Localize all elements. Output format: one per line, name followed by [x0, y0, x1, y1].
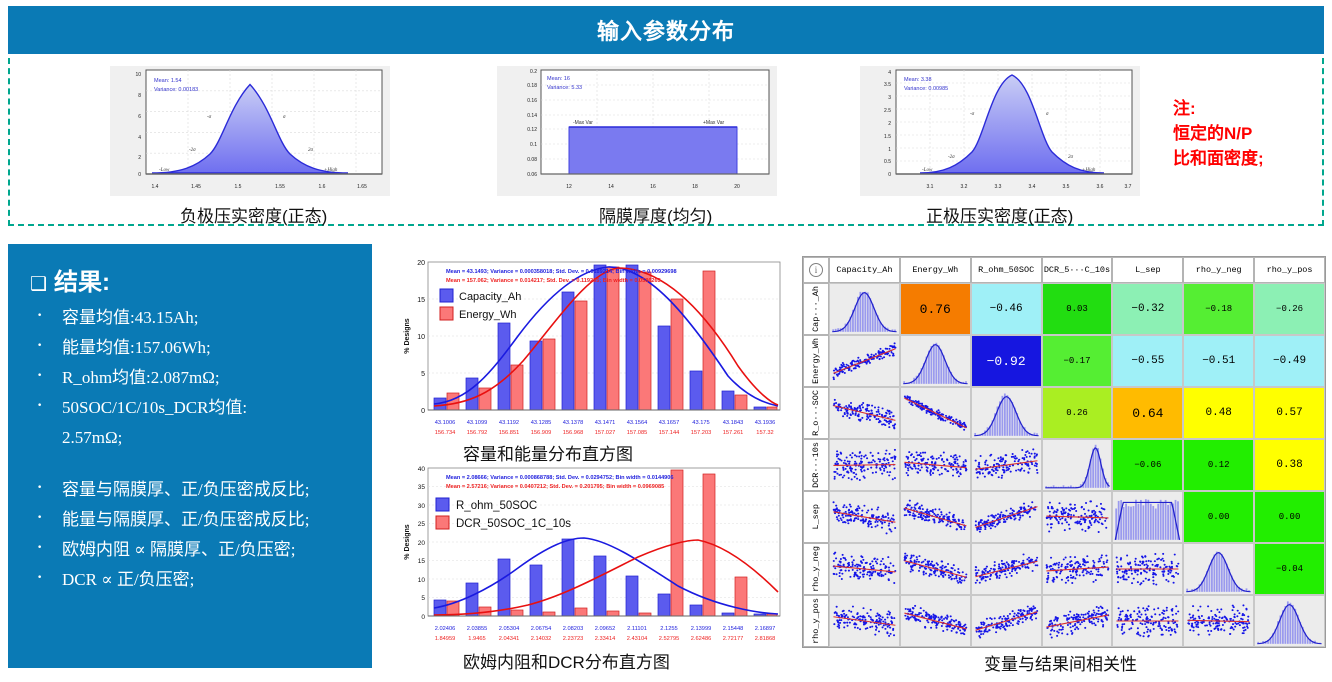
list-item: 欧姆内阻 ∝ 隔膜厚、正/负压密; — [28, 535, 358, 565]
legend-label-energy: Energy_Wh — [459, 309, 516, 321]
matrix-diagonal-histogram-4 — [1112, 491, 1183, 543]
list-item: 容量与隔膜厚、正/负压密成反比; — [28, 475, 358, 505]
svg-text:+High: +High — [1082, 168, 1096, 173]
distribution-caption-cathode: 正极压实密度(正态) — [926, 202, 1073, 227]
matrix-scatter-cell-4-2 — [971, 491, 1042, 543]
svg-text:3.1: 3.1 — [927, 184, 934, 190]
svg-text:6: 6 — [138, 114, 141, 120]
matrix-diagonal-histogram-2 — [971, 387, 1042, 439]
svg-text:15: 15 — [417, 297, 425, 304]
correlation-value: 0.48 — [1184, 388, 1253, 438]
histogram-plot-1: 2015 105 0 % Designs Mean = 43.1493; Var… — [398, 256, 788, 442]
distribution-caption-anode: 负极压实密度(正态) — [180, 202, 327, 227]
results-relationship-list: 容量与隔膜厚、正/负压密成反比; 能量与隔膜厚、正/负压密成反比; 欧姆内阻 ∝… — [28, 475, 358, 595]
svg-text:2.33414: 2.33414 — [595, 636, 616, 642]
svg-text:156.968: 156.968 — [563, 430, 584, 436]
svg-text:43.1099: 43.1099 — [467, 420, 488, 426]
distribution-chart-anode: 108 64 20 1.41.45 1.51.55 1.61.65 Mean: … — [110, 66, 390, 196]
matrix-correlation-cell-2-3: 0.26 — [1042, 387, 1113, 439]
correlation-value: 0.57 — [1255, 388, 1324, 438]
legend-label-rohm: R_ohm_50SOC — [456, 500, 537, 512]
svg-text:156.851: 156.851 — [499, 430, 520, 436]
svg-text:2.62486: 2.62486 — [691, 636, 712, 642]
svg-text:-Low: -Low — [159, 168, 170, 173]
correlation-value: 0.03 — [1043, 284, 1112, 334]
svg-text:2.23723: 2.23723 — [563, 636, 584, 642]
svg-text:2.81868: 2.81868 — [755, 636, 776, 642]
svg-text:43.1564: 43.1564 — [627, 420, 648, 426]
svg-text:2.14032: 2.14032 — [531, 636, 552, 642]
list-item: 能量均值:157.06Wh; — [28, 333, 358, 363]
matrix-correlation-cell-1-3: −0.17 — [1042, 335, 1113, 387]
svg-text:40: 40 — [418, 466, 426, 473]
matrix-column-header-1: Energy_Wh — [900, 257, 971, 283]
svg-text:0.5: 0.5 — [884, 159, 891, 165]
svg-text:2.02406: 2.02406 — [435, 626, 456, 632]
svg-text:30: 30 — [418, 503, 426, 510]
svg-text:0: 0 — [138, 172, 141, 178]
svg-text:16: 16 — [650, 184, 656, 190]
normal-distribution-plot-1: 108 64 20 1.41.45 1.51.55 1.61.65 Mean: … — [110, 66, 390, 196]
svg-text:0: 0 — [421, 614, 425, 621]
correlation-value: −0.32 — [1113, 284, 1182, 334]
svg-text:0.16: 0.16 — [527, 98, 537, 104]
mean-label-1: Mean: 1.54 — [154, 78, 182, 84]
matrix-correlation-cell-0-2: −0.46 — [971, 283, 1042, 335]
svg-text:1.6: 1.6 — [319, 184, 326, 190]
svg-text:43.1936: 43.1936 — [755, 420, 776, 426]
matrix-column-header-0: Capacity_Ah — [829, 257, 900, 283]
histogram-capacity-energy: 2015 105 0 % Designs Mean = 43.1493; Var… — [398, 256, 788, 442]
svg-text:3.7: 3.7 — [1125, 184, 1132, 190]
stats-line-blue-2: Mean = 2.08666; Variance = 0.000868788; … — [446, 475, 674, 481]
matrix-row-header-6: rho_y_pos — [803, 595, 829, 647]
svg-text:18: 18 — [692, 184, 698, 190]
normal-distribution-plot-2: 43.5 32.5 21.5 10.5 0 3.13.2 3.33.4 3.53… — [860, 66, 1140, 196]
svg-text:20: 20 — [418, 540, 426, 547]
matrix-scatter-cell-4-0 — [829, 491, 900, 543]
note-line-3: 比和面密度; — [1173, 146, 1264, 171]
results-title-text: 结果: — [54, 269, 110, 296]
svg-text:0.08: 0.08 — [527, 157, 537, 163]
svg-text:3.4: 3.4 — [1029, 184, 1036, 190]
svg-text:156.909: 156.909 — [531, 430, 552, 436]
svg-text:% Designs: % Designs — [404, 318, 411, 354]
matrix-scatter-cell-2-1 — [900, 387, 971, 439]
matrix-diagonal-histogram-1 — [900, 335, 971, 387]
distribution-chart-cathode: 43.5 32.5 21.5 10.5 0 3.13.2 3.33.4 3.53… — [860, 66, 1140, 196]
matrix-row-header-2: R_o···SOC — [803, 387, 829, 439]
svg-text:156.792: 156.792 — [467, 430, 488, 436]
svg-text:157.203: 157.203 — [691, 430, 712, 436]
input-distributions-section: 108 64 20 1.41.45 1.51.55 1.61.65 Mean: … — [8, 58, 1324, 226]
correlation-value: 0.12 — [1184, 440, 1253, 490]
info-icon: i — [809, 263, 823, 277]
correlation-value: 0.76 — [901, 284, 970, 334]
svg-text:2.04341: 2.04341 — [499, 636, 520, 642]
svg-text:2.43104: 2.43104 — [627, 636, 648, 642]
matrix-scatter-cell-6-0 — [829, 595, 900, 647]
histogram-caption-2: 欧姆内阻和DCR分布直方图 — [463, 648, 670, 673]
matrix-correlation-cell-5-6: −0.04 — [1254, 543, 1325, 595]
svg-text:2.08203: 2.08203 — [563, 626, 584, 632]
matrix-correlation-cell-2-5: 0.48 — [1183, 387, 1254, 439]
svg-text:4: 4 — [888, 70, 891, 76]
svg-text:2.06754: 2.06754 — [531, 626, 552, 632]
matrix-column-header-5: rho_y_neg — [1183, 257, 1254, 283]
svg-text:-Max Var: -Max Var — [573, 120, 593, 126]
list-item-continuation: 2.57mΩ; — [28, 423, 358, 453]
results-metric-list: 容量均值:43.15Ah; 能量均值:157.06Wh; R_ohm均值:2.0… — [28, 303, 358, 453]
matrix-scatter-cell-2-0 — [829, 387, 900, 439]
svg-text:0.06: 0.06 — [527, 172, 537, 178]
matrix-correlation-cell-1-4: −0.55 — [1112, 335, 1183, 387]
svg-text:% Designs: % Designs — [404, 524, 411, 560]
correlation-value: −0.46 — [972, 284, 1041, 334]
svg-text:156.734: 156.734 — [435, 430, 456, 436]
svg-text:5: 5 — [421, 371, 425, 378]
histogram-plot-2: 4035 3025 2015 105 0 % Designs Mean = 2.… — [398, 462, 788, 648]
matrix-scatter-cell-6-5 — [1183, 595, 1254, 647]
svg-text:1.45: 1.45 — [191, 184, 201, 190]
svg-text:3.3: 3.3 — [995, 184, 1002, 190]
variance-label-3: Variance: 0.00985 — [904, 86, 948, 92]
list-item: 容量均值:43.15Ah; — [28, 303, 358, 333]
svg-text:14: 14 — [608, 184, 614, 190]
matrix-info-cell: i — [803, 257, 829, 283]
svg-text:8: 8 — [138, 93, 141, 99]
matrix-scatter-cell-4-3 — [1042, 491, 1113, 543]
svg-text:2: 2 — [138, 155, 141, 161]
svg-text:-σ: -σ — [207, 115, 212, 120]
correlation-value: −0.49 — [1255, 336, 1324, 386]
variance-label-1: Variance: 0.00183 — [154, 87, 198, 93]
svg-text:2.11101: 2.11101 — [627, 626, 647, 632]
matrix-row-header-1: Energy_Wh — [803, 335, 829, 387]
correlation-value: 0.38 — [1255, 440, 1324, 490]
svg-text:3.5: 3.5 — [884, 82, 891, 88]
matrix-diagonal-histogram-6 — [1254, 595, 1325, 647]
matrix-scatter-cell-3-2 — [971, 439, 1042, 491]
svg-text:35: 35 — [418, 484, 426, 491]
matrix-column-header-6: rho_y_pos — [1254, 257, 1325, 283]
mean-label-2: Mean: 16 — [547, 76, 570, 82]
correlation-value: −0.18 — [1184, 284, 1253, 334]
svg-text:3.2: 3.2 — [961, 184, 968, 190]
svg-text:2.52795: 2.52795 — [659, 636, 680, 642]
correlation-value: −0.51 — [1184, 336, 1253, 386]
correlation-value: −0.04 — [1255, 544, 1324, 594]
svg-text:0.12: 0.12 — [527, 127, 537, 133]
svg-text:43.1006: 43.1006 — [435, 420, 456, 426]
matrix-scatter-cell-3-1 — [900, 439, 971, 491]
svg-text:-σ: -σ — [970, 112, 975, 117]
svg-text:1.55: 1.55 — [275, 184, 285, 190]
matrix-correlation-cell-4-6: 0.00 — [1254, 491, 1325, 543]
svg-text:1.4: 1.4 — [152, 184, 159, 190]
list-item: 50SOC/1C/10s_DCR均值: — [28, 393, 358, 423]
svg-text:10: 10 — [418, 577, 426, 584]
correlation-value: 0.64 — [1113, 388, 1182, 438]
svg-text:0.1: 0.1 — [530, 142, 537, 148]
svg-text:0.18: 0.18 — [527, 83, 537, 89]
svg-text:15: 15 — [418, 558, 426, 565]
matrix-correlation-cell-0-3: 0.03 — [1042, 283, 1113, 335]
svg-text:12: 12 — [566, 184, 572, 190]
svg-text:43.175: 43.175 — [692, 420, 709, 426]
matrix-scatter-cell-5-2 — [971, 543, 1042, 595]
results-title: ❑结果: — [30, 262, 358, 297]
correlation-matrix: iCapacity_AhEnergy_WhR_ohm_50SOCDCR_5···… — [802, 256, 1326, 648]
matrix-diagonal-histogram-3 — [1042, 439, 1113, 491]
matrix-scatter-cell-5-4 — [1112, 543, 1183, 595]
svg-text:3.5: 3.5 — [1063, 184, 1070, 190]
matrix-diagonal-histogram-0 — [829, 283, 900, 335]
svg-text:1.5: 1.5 — [235, 184, 242, 190]
svg-text:157.261: 157.261 — [723, 430, 744, 436]
matrix-scatter-cell-3-0 — [829, 439, 900, 491]
correlation-value: −0.06 — [1113, 440, 1182, 490]
matrix-column-header-4: L_sep — [1112, 257, 1183, 283]
matrix-row-header-0: Cap···_Ah — [803, 283, 829, 335]
svg-text:43.1843: 43.1843 — [723, 420, 744, 426]
svg-text:2.13999: 2.13999 — [691, 626, 712, 632]
matrix-correlation-cell-4-5: 0.00 — [1183, 491, 1254, 543]
svg-text:+Max Var: +Max Var — [703, 120, 724, 126]
correlation-value: 0.00 — [1255, 492, 1324, 542]
svg-text:2.5: 2.5 — [884, 108, 891, 114]
matrix-correlation-cell-0-6: −0.26 — [1254, 283, 1325, 335]
svg-text:0: 0 — [421, 408, 425, 415]
matrix-row-header-3: DCR···10s — [803, 439, 829, 491]
matrix-scatter-cell-6-4 — [1112, 595, 1183, 647]
matrix-scatter-cell-1-0 — [829, 335, 900, 387]
list-item: DCR ∝ 正/负压密; — [28, 565, 358, 595]
matrix-scatter-cell-6-2 — [971, 595, 1042, 647]
mean-label-3: Mean: 3.38 — [904, 77, 932, 83]
matrix-correlation-cell-2-6: 0.57 — [1254, 387, 1325, 439]
page-header-banner: 输入参数分布 — [8, 6, 1324, 54]
svg-text:157.32: 157.32 — [756, 430, 773, 436]
matrix-column-header-2: R_ohm_50SOC — [971, 257, 1042, 283]
correlation-value: −0.17 — [1043, 336, 1112, 386]
matrix-scatter-cell-6-3 — [1042, 595, 1113, 647]
matrix-scatter-cell-5-0 — [829, 543, 900, 595]
list-item: R_ohm均值:2.087mΩ; — [28, 363, 358, 393]
correlation-value: 0.00 — [1184, 492, 1253, 542]
svg-text:10: 10 — [417, 334, 425, 341]
svg-text:43.1471: 43.1471 — [595, 420, 616, 426]
matrix-correlation-cell-1-5: −0.51 — [1183, 335, 1254, 387]
legend-label-capacity: Capacity_Ah — [459, 291, 521, 303]
note-block: 注: 恒定的N/P 比和面密度; — [1173, 96, 1264, 171]
svg-text:1.5: 1.5 — [884, 134, 891, 140]
matrix-correlation-cell-0-5: −0.18 — [1183, 283, 1254, 335]
matrix-correlation-cell-0-1: 0.76 — [900, 283, 971, 335]
svg-text:1.9465: 1.9465 — [468, 636, 485, 642]
matrix-row-header-5: rho_y_neg — [803, 543, 829, 595]
svg-text:157.027: 157.027 — [595, 430, 616, 436]
svg-text:2: 2 — [888, 121, 891, 127]
results-panel: ❑结果: 容量均值:43.15Ah; 能量均值:157.06Wh; R_ohm均… — [8, 244, 372, 668]
svg-text:4: 4 — [138, 135, 141, 141]
matrix-correlation-cell-2-4: 0.64 — [1112, 387, 1183, 439]
distribution-caption-separator: 隔膜厚度(均匀) — [599, 202, 712, 227]
svg-text:157.085: 157.085 — [627, 430, 648, 436]
svg-text:3: 3 — [888, 95, 891, 101]
svg-text:2σ: 2σ — [308, 148, 314, 153]
svg-text:43.1285: 43.1285 — [531, 420, 552, 426]
svg-text:2.1255: 2.1255 — [660, 626, 677, 632]
svg-text:25: 25 — [418, 521, 426, 528]
svg-text:20: 20 — [734, 184, 740, 190]
svg-text:43.1657: 43.1657 — [659, 420, 680, 426]
svg-text:10: 10 — [135, 72, 141, 78]
svg-text:43.1192: 43.1192 — [499, 420, 519, 426]
svg-text:3.6: 3.6 — [1097, 184, 1104, 190]
svg-text:2.72177: 2.72177 — [723, 636, 744, 642]
list-spacer — [28, 453, 358, 475]
variance-label-2: Variance: 5.33 — [547, 85, 582, 91]
matrix-row-header-4: L_sep — [803, 491, 829, 543]
svg-text:+High: +High — [324, 168, 338, 173]
svg-text:5: 5 — [421, 595, 425, 602]
matrix-correlation-cell-1-2: −0.92 — [971, 335, 1042, 387]
svg-text:1.84959: 1.84959 — [435, 636, 456, 642]
matrix-scatter-cell-5-1 — [900, 543, 971, 595]
svg-text:0.14: 0.14 — [527, 113, 537, 119]
distribution-chart-separator: 0.20.18 0.160.14 0.120.1 0.080.06 1214 1… — [497, 66, 777, 196]
matrix-column-header-3: DCR_5···C_10s — [1042, 257, 1113, 283]
svg-text:43.1378: 43.1378 — [563, 420, 584, 426]
matrix-caption: 变量与结果间相关性 — [984, 650, 1137, 675]
svg-text:157.144: 157.144 — [659, 430, 680, 436]
matrix-scatter-cell-4-1 — [900, 491, 971, 543]
svg-text:2.03855: 2.03855 — [467, 626, 488, 632]
svg-text:-2σ: -2σ — [189, 148, 196, 153]
svg-text:1.65: 1.65 — [357, 184, 367, 190]
matrix-correlation-cell-3-5: 0.12 — [1183, 439, 1254, 491]
legend-label-dcr: DCR_50SOC_1C_10s — [456, 518, 571, 530]
stats-line-red-2: Mean = 2.57216; Variance = 0.0407212; St… — [446, 484, 664, 490]
svg-text:20: 20 — [417, 260, 425, 267]
stats-line-blue-1: Mean = 43.1493; Variance = 0.000358018; … — [446, 269, 677, 275]
svg-text:2.16897: 2.16897 — [755, 626, 776, 632]
svg-text:0.2: 0.2 — [530, 69, 537, 75]
note-line-2: 恒定的N/P — [1173, 121, 1264, 146]
svg-text:2.05304: 2.05304 — [499, 626, 520, 632]
matrix-scatter-cell-5-3 — [1042, 543, 1113, 595]
square-bullet-icon: ❑ — [30, 274, 47, 295]
matrix-scatter-cell-6-1 — [900, 595, 971, 647]
svg-text:2.09652: 2.09652 — [595, 626, 616, 632]
correlation-value: −0.26 — [1255, 284, 1324, 334]
svg-text:2σ: 2σ — [1068, 155, 1074, 160]
matrix-correlation-cell-1-6: −0.49 — [1254, 335, 1325, 387]
note-line-1: 注: — [1173, 96, 1264, 121]
histogram-rohm-dcr: 4035 3025 2015 105 0 % Designs Mean = 2.… — [398, 462, 788, 648]
correlation-value: 0.26 — [1043, 388, 1112, 438]
stats-line-red-1: Mean = 157.062; Variance = 0.014217; Std… — [446, 278, 661, 284]
svg-text:-Low: -Low — [922, 168, 933, 173]
svg-text:2.15448: 2.15448 — [723, 626, 744, 632]
list-item: 能量与隔膜厚、正/负压密成反比; — [28, 505, 358, 535]
correlation-value: −0.92 — [972, 336, 1041, 386]
matrix-diagonal-histogram-5 — [1183, 543, 1254, 595]
matrix-correlation-cell-0-4: −0.32 — [1112, 283, 1183, 335]
svg-text:0: 0 — [888, 172, 891, 178]
uniform-distribution-plot: 0.20.18 0.160.14 0.120.1 0.080.06 1214 1… — [497, 66, 777, 196]
matrix-correlation-cell-3-4: −0.06 — [1112, 439, 1183, 491]
matrix-correlation-cell-3-6: 0.38 — [1254, 439, 1325, 491]
page-title: 输入参数分布 — [597, 14, 735, 46]
svg-text:1: 1 — [888, 147, 891, 153]
svg-text:-2σ: -2σ — [948, 155, 955, 160]
correlation-value: −0.55 — [1113, 336, 1182, 386]
